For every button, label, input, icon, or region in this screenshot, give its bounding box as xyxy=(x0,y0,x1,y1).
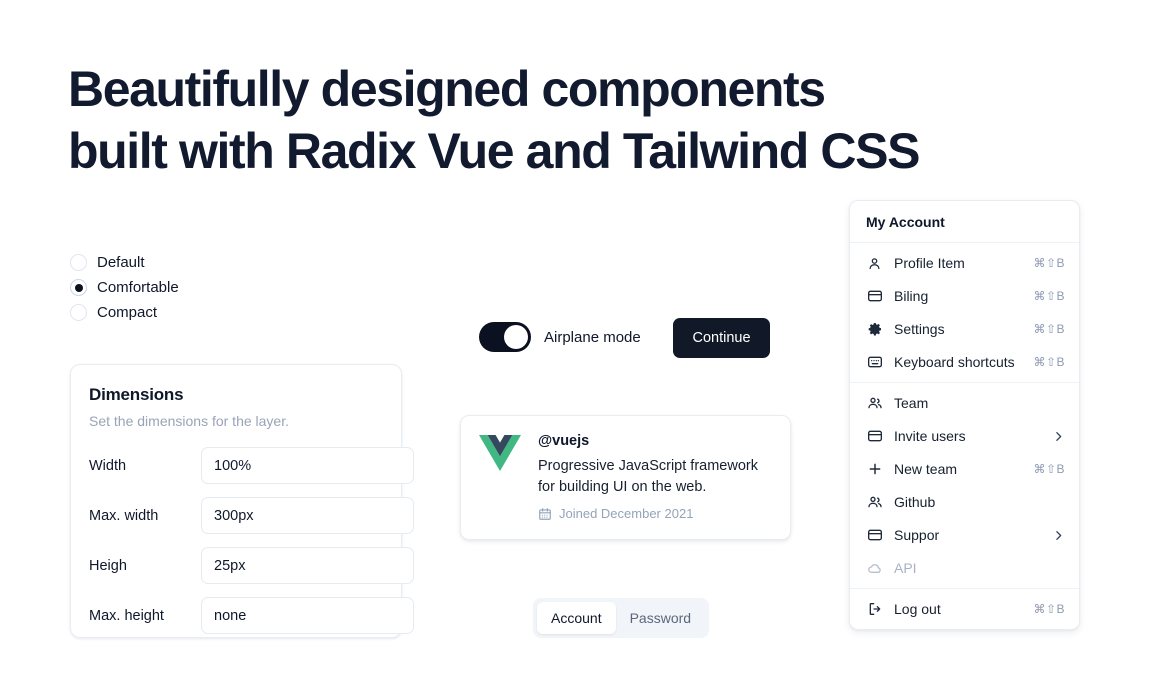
toggle-knob xyxy=(504,325,528,349)
menu-item-shortcut: ⌘⇧B xyxy=(1033,289,1065,303)
hover-card-body: @vuejs Progressive JavaScript framework … xyxy=(538,433,772,522)
users-icon xyxy=(866,395,883,412)
radio-circle-icon[interactable] xyxy=(70,304,87,321)
width-input[interactable] xyxy=(201,447,414,484)
menu-item-label: Github xyxy=(894,494,1065,510)
menu-item-label: New team xyxy=(894,461,1033,477)
max-height-input[interactable] xyxy=(201,597,414,634)
radio-label: Comfortable xyxy=(97,279,179,296)
plus-icon xyxy=(866,461,883,478)
menu-item-label: Team xyxy=(894,395,1065,411)
credit-card-icon xyxy=(866,288,883,305)
field-label-max-width: Max. width xyxy=(89,508,201,524)
radio-group: Default Comfortable Compact xyxy=(70,250,179,325)
tab-account[interactable]: Account xyxy=(537,602,616,634)
radio-option-comfortable[interactable]: Comfortable xyxy=(70,275,179,300)
max-width-input[interactable] xyxy=(201,497,414,534)
menu-item-keyboard-shortcuts[interactable]: Keyboard shortcuts ⌘⇧B xyxy=(856,348,1073,376)
vue-logo-icon xyxy=(479,435,521,477)
dimensions-card-title: Dimensions xyxy=(89,385,383,405)
vuejs-hover-card: @vuejs Progressive JavaScript framework … xyxy=(460,415,791,540)
settings-tabs: Account Password xyxy=(533,598,709,638)
page-title-line-1: Beautifully designed components xyxy=(68,58,1028,120)
radio-circle-icon[interactable] xyxy=(70,254,87,271)
dimensions-card: Dimensions Set the dimensions for the la… xyxy=(70,364,402,638)
page-title: Beautifully designed components built wi… xyxy=(68,58,1028,182)
menu-item-label: API xyxy=(894,560,1065,576)
menu-item-settings[interactable]: Settings ⌘⇧B xyxy=(856,315,1073,343)
airplane-mode-label: Airplane mode xyxy=(544,329,641,346)
tab-password[interactable]: Password xyxy=(616,602,705,634)
page-title-line-2: built with Radix Vue and Tailwind CSS xyxy=(68,120,1028,182)
radio-option-compact[interactable]: Compact xyxy=(70,300,179,325)
field-label-height: Heigh xyxy=(89,558,201,574)
radio-circle-checked-icon[interactable] xyxy=(70,279,87,296)
account-dropdown-menu: My Account Profile Item ⌘⇧B Biling ⌘⇧B xyxy=(849,200,1080,630)
field-row-max-height: Max. height xyxy=(89,597,383,634)
field-label-width: Width xyxy=(89,458,201,474)
radio-label: Compact xyxy=(97,304,157,321)
vuejs-handle: @vuejs xyxy=(538,433,772,449)
menu-item-label: Keyboard shortcuts xyxy=(894,354,1033,370)
field-row-width: Width xyxy=(89,447,383,484)
height-input[interactable] xyxy=(201,547,414,584)
menu-item-shortcut: ⌘⇧B xyxy=(1033,256,1065,270)
menu-item-label: Invite users xyxy=(894,428,1052,444)
chevron-right-icon xyxy=(1052,529,1065,542)
menu-item-shortcut: ⌘⇧B xyxy=(1033,462,1065,476)
credit-card-icon xyxy=(866,527,883,544)
field-label-max-height: Max. height xyxy=(89,608,201,624)
dimensions-card-description: Set the dimensions for the layer. xyxy=(89,413,383,429)
vuejs-description: Progressive JavaScript framework for bui… xyxy=(538,456,772,498)
menu-item-label: Log out xyxy=(894,601,1033,617)
airplane-mode-row: Airplane mode xyxy=(479,322,641,352)
logout-icon xyxy=(866,601,883,618)
users-icon xyxy=(866,494,883,511)
continue-button[interactable]: Continue xyxy=(673,318,770,358)
cloud-icon xyxy=(866,560,883,577)
user-icon xyxy=(866,255,883,272)
menu-item-shortcut: ⌘⇧B xyxy=(1033,355,1065,369)
gear-icon xyxy=(866,321,883,338)
menu-item-log-out[interactable]: Log out ⌘⇧B xyxy=(856,595,1073,623)
menu-item-support[interactable]: Suppor xyxy=(856,521,1073,549)
vuejs-joined-label: Joined December 2021 xyxy=(559,506,693,521)
keyboard-icon xyxy=(866,354,883,371)
field-row-max-width: Max. width xyxy=(89,497,383,534)
menu-item-label: Profile Item xyxy=(894,255,1033,271)
field-row-height: Heigh xyxy=(89,547,383,584)
menu-group-session: Log out ⌘⇧B xyxy=(850,589,1079,629)
menu-item-new-team[interactable]: New team ⌘⇧B xyxy=(856,455,1073,483)
menu-item-invite-users[interactable]: Invite users xyxy=(856,422,1073,450)
menu-group-account: Profile Item ⌘⇧B Biling ⌘⇧B Settings ⌘⇧B xyxy=(850,243,1079,382)
vuejs-joined-row: Joined December 2021 xyxy=(538,506,772,521)
dimensions-fields: Width Max. width Heigh Max. height xyxy=(89,447,383,634)
menu-item-label: Biling xyxy=(894,288,1033,304)
menu-item-label: Suppor xyxy=(894,527,1052,543)
menu-item-shortcut: ⌘⇧B xyxy=(1033,602,1065,616)
menu-item-label: Settings xyxy=(894,321,1033,337)
menu-item-shortcut: ⌘⇧B xyxy=(1033,322,1065,336)
radio-label: Default xyxy=(97,254,145,271)
menu-item-github[interactable]: Github xyxy=(856,488,1073,516)
chevron-right-icon xyxy=(1052,430,1065,443)
menu-item-api: API xyxy=(856,554,1073,582)
airplane-mode-toggle[interactable] xyxy=(479,322,531,352)
credit-card-icon xyxy=(866,428,883,445)
radio-option-default[interactable]: Default xyxy=(70,250,179,275)
menu-item-billing[interactable]: Biling ⌘⇧B xyxy=(856,282,1073,310)
menu-header-label: My Account xyxy=(850,201,1079,242)
menu-item-profile[interactable]: Profile Item ⌘⇧B xyxy=(856,249,1073,277)
calendar-icon xyxy=(538,507,552,521)
menu-group-team: Team Invite users New team ⌘⇧B xyxy=(850,383,1079,588)
page-root: Beautifully designed components built wi… xyxy=(0,0,1152,700)
menu-item-team[interactable]: Team xyxy=(856,389,1073,417)
